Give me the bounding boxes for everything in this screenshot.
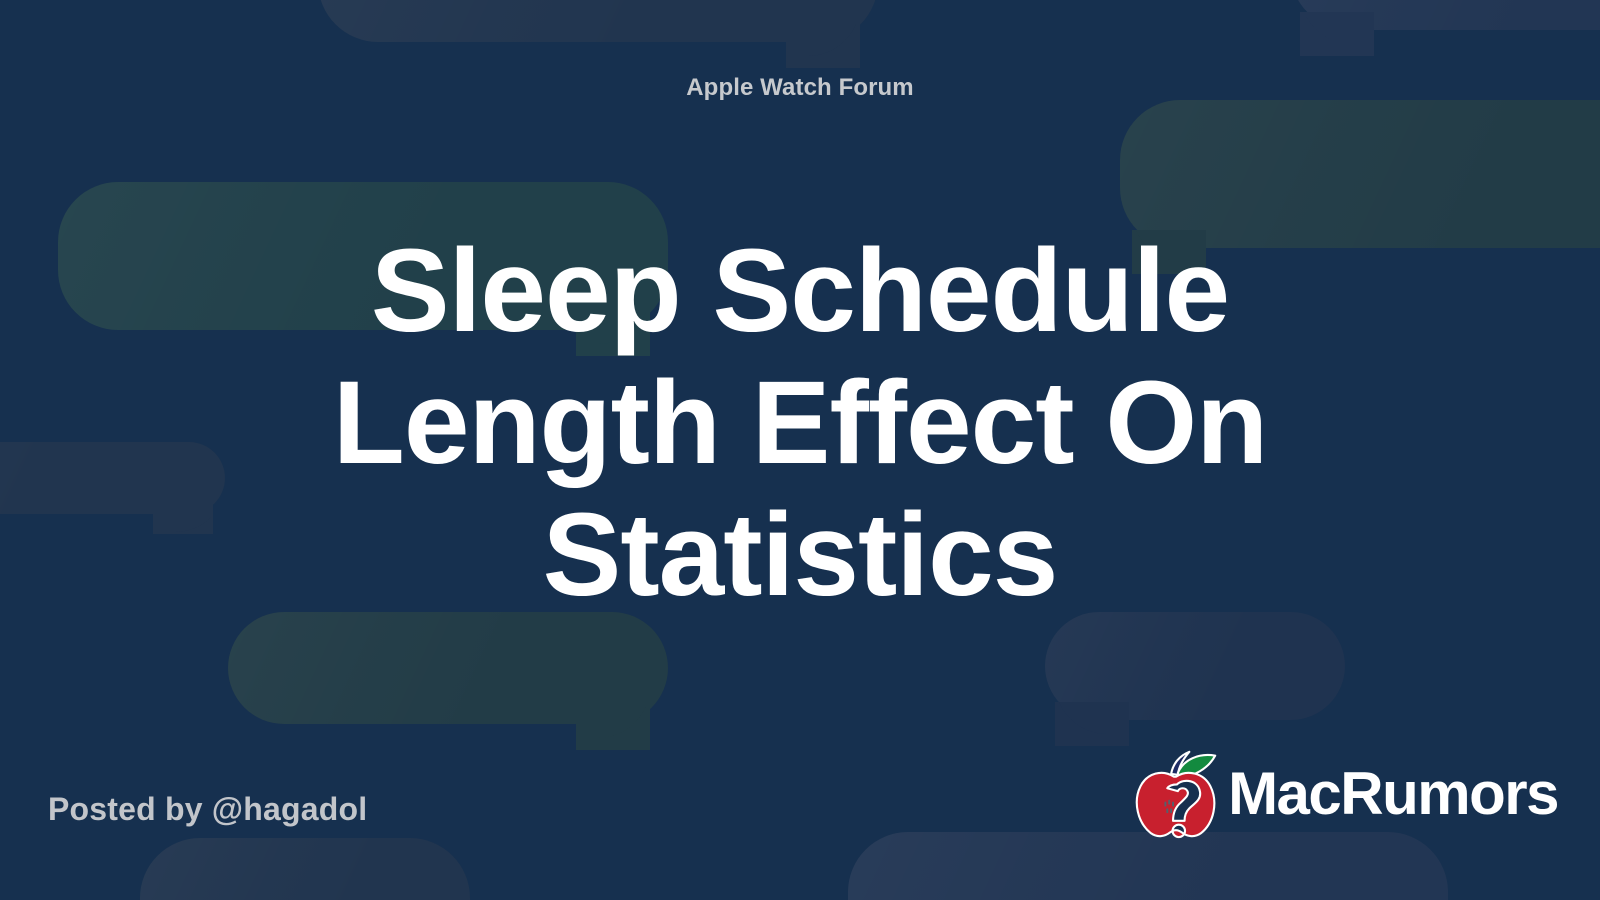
macrumors-wordmark: MacRumors <box>1228 764 1558 824</box>
page-title: Sleep Schedule Length Effect On Statisti… <box>240 225 1360 621</box>
forum-label: Apple Watch Forum <box>0 74 1600 102</box>
macrumors-apple-icon <box>1126 748 1222 840</box>
card-content: Apple Watch Forum Sleep Schedule Length … <box>0 0 1600 900</box>
macrumors-logo: MacRumors <box>1126 748 1558 840</box>
social-share-card: Apple Watch Forum Sleep Schedule Length … <box>0 0 1600 900</box>
byline-posted-by: Posted by @hagadol <box>48 791 367 828</box>
